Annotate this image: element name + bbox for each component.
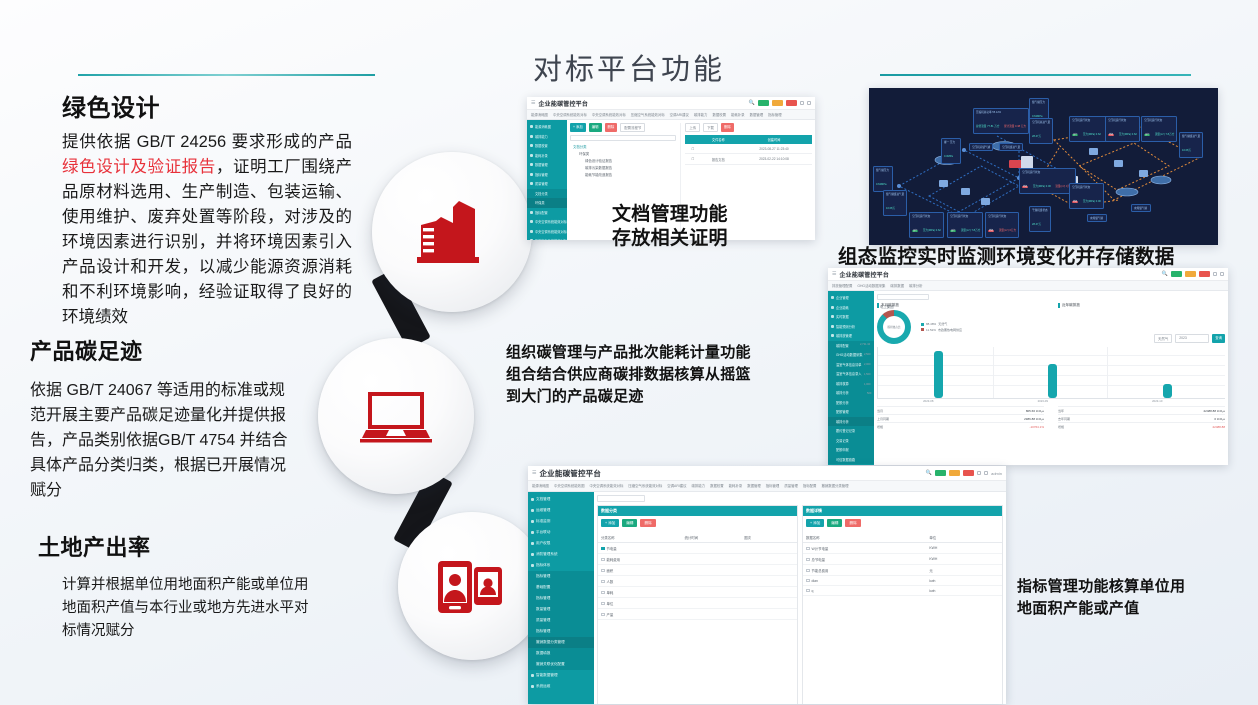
node-title: 空压机运行状态	[1072, 186, 1101, 189]
tab[interactable]: 空调ARI建议	[670, 112, 689, 117]
sidebar-item-label: 指标体系	[536, 563, 550, 568]
column-header: 单位	[926, 533, 1002, 543]
topology-node[interactable]: 罐一 压力 0.3MPa	[941, 138, 961, 164]
tab[interactable]: 质量管理	[784, 483, 798, 489]
tree-node[interactable]: 碳排污染数据报告	[570, 165, 676, 172]
tree-node[interactable]: 能耗节能改造报告	[570, 172, 676, 179]
table-row[interactable]: 产量	[598, 609, 797, 620]
sidebar-item-label: 碳排能力	[535, 134, 548, 139]
table-row[interactable]: qkwh	[803, 586, 1002, 596]
node-title: 末端储气罐	[1090, 217, 1104, 220]
node-value: 流量(m³) 7.8万方	[1155, 133, 1174, 136]
sidebar-subitem-active[interactable]: 环保类	[527, 198, 567, 208]
sidebar-item[interactable]: 指标配置	[527, 208, 567, 218]
donut-center-label: 碳排放占比	[883, 316, 905, 338]
tab-bar[interactable]: 能源消耗图 中央空调系统能效对标 中央空调系统能效对标 压缩空气系统能效对标 空…	[527, 110, 815, 120]
summary-value: 2986.88 tCO₂e	[1024, 417, 1044, 421]
tab[interactable]: 碳排数据	[890, 283, 904, 288]
caption-carbon-dashboard: 组织碳管理与产品批次能耗计量功能 组合结合供应商碳排数据核算从摇篮 到大门的产品…	[506, 342, 751, 407]
tab[interactable]: 数据管理	[750, 112, 764, 117]
sidebar-item[interactable]: 压缩空气系统能效对标	[527, 236, 567, 240]
sidebar-subitem[interactable]: 指标管理	[528, 626, 594, 637]
sidebar-item-label: 数据管理	[535, 162, 548, 167]
edit-button[interactable]: 编辑	[622, 519, 637, 527]
file-table: 文件名称 创建时间 ☐ 2023-08-27 11:23:40 ☐ 报告文档 2…	[685, 135, 812, 165]
user-label[interactable]: admin	[991, 471, 1002, 476]
topology-node[interactable]: 末端储气罐	[1131, 204, 1151, 212]
cell-name[interactable]: 总节电量	[803, 554, 926, 565]
topology-node[interactable]: 末端储气罐	[1087, 214, 1107, 222]
status-badge: 停机	[1108, 134, 1114, 136]
delete-button[interactable]: 删除	[605, 123, 618, 132]
sidebar-item[interactable]: 智能预测分析	[828, 322, 874, 332]
tab[interactable]: 能源消耗图	[532, 483, 549, 489]
cell-unit: KWH	[926, 543, 1002, 554]
node-title: 空压机运行状态	[988, 215, 1016, 218]
section-title: 绿色设计	[62, 88, 352, 123]
sidebar-item[interactable]: 能源消耗图	[527, 122, 567, 132]
table-row[interactable]: 节能总费用元	[803, 565, 1002, 576]
toolbar[interactable]: + 添加 编辑 删除	[803, 516, 1002, 530]
sidebar-item[interactable]: 质量管理	[527, 179, 567, 189]
y-tick: 2,000	[864, 363, 871, 366]
table-row[interactable]: 面积	[598, 565, 797, 576]
sidebar-item[interactable]: 文档管理	[528, 494, 594, 505]
tab[interactable]: 数据校置	[712, 112, 726, 117]
tab[interactable]: 碳排能力	[694, 112, 708, 117]
topology-node-ok[interactable]: 空压机运行状态 运行 流量(m³) 7.8万方	[1141, 116, 1177, 142]
topology-node-ok[interactable]: 空压机运行状态 运行 压力(MPa) 0.62	[909, 212, 944, 238]
sidebar-item-label: 指标管理	[535, 172, 548, 177]
sidebar-item-label: 环保类	[535, 200, 545, 205]
sidebar-item-label: 基础配置	[536, 585, 550, 590]
sidebar-subitem[interactable]: 配额分析	[828, 398, 874, 408]
data-category-panel: 数据分类 + 添加 编辑 删除 分类名称 统计时间 图次 节电量 能耗费用	[597, 505, 798, 704]
detail-table: 数据名称 单位 W计节电量KWH 总节电量KWH 节能总费用元 diankwh …	[803, 533, 1002, 596]
sidebar-subitem[interactable]: 指标管理	[528, 571, 594, 582]
y-tick: 500	[867, 392, 871, 395]
toolbar[interactable]: 上传 下载 删除	[685, 123, 812, 132]
topology-node[interactable]: 储气罐组进气量 10.08万	[1179, 132, 1203, 158]
topology-node[interactable]: 压缩机总功率 55.12% 总管流量 77.81 万方 累计流量 0.38 万方	[973, 108, 1029, 134]
select-all-checkbox[interactable]	[685, 135, 700, 144]
table-row[interactable]: 单位	[598, 598, 797, 609]
summary-key: 增幅	[1058, 425, 1212, 429]
tab[interactable]: 中央空调系统能效对标	[592, 112, 626, 117]
menu-icon[interactable]: ☰	[532, 470, 536, 476]
caption-indicator-management: 指标管理功能核算单位用 地面积产能或产值	[1017, 576, 1185, 620]
donut-ring: 碳排放占比	[877, 310, 911, 344]
sidebar-subitem[interactable]: 履约登记记录	[828, 426, 874, 436]
summary-value: 0 tCO₂e	[1214, 417, 1225, 421]
node-title: 空压机运行状态	[1022, 171, 1073, 174]
tab[interactable]: 中央空调系统能效对标	[589, 483, 623, 489]
sidebar-item[interactable]: 用户权限	[528, 538, 594, 549]
node-value: 0.62MPa	[876, 183, 886, 186]
sidebar-item-label: 实时数据	[836, 314, 849, 319]
mobile-users-icon	[398, 512, 546, 660]
sidebar-item[interactable]: 标准监测	[528, 516, 594, 527]
node-value: 流量(m³) 0万方	[999, 229, 1016, 232]
thumbnail-indicator-management[interactable]: ☰ 企业能碳管控平台 🔍 admin 能源消耗图 中央空调系统能效图 中央空调系…	[528, 466, 1006, 704]
sidebar-item[interactable]: 数据校置	[527, 141, 567, 151]
summary-key: 上月同期	[877, 417, 1024, 421]
node-value: 10.08万	[1182, 149, 1191, 152]
menu-icon[interactable]: ☰	[832, 271, 836, 277]
sidebar-subitem[interactable]: 撤销关联优化配置	[528, 659, 594, 670]
sidebar-item-label: 能耗补录	[535, 153, 548, 158]
sidebar-item-label: 消防管理系统	[536, 552, 558, 557]
tab[interactable]: 压缩空气系统能效对标	[631, 112, 665, 117]
node-title: 储气罐压力	[876, 169, 890, 172]
sidebar-item[interactable]: 指标体系	[528, 560, 594, 571]
tab[interactable]: 能耗补录	[729, 483, 743, 489]
node-value: 压力(MPa) 0.62	[923, 229, 941, 232]
tab[interactable]: 指标配置	[803, 483, 817, 489]
legend-value: 11.52%	[926, 328, 936, 332]
sidebar-item-label: 撤销数据分类管理	[536, 640, 565, 645]
summary-row: 增幅 22488.88	[1058, 422, 1225, 430]
cell-name[interactable]: 产量	[598, 609, 682, 620]
node-title: 空压机运行状态	[950, 215, 980, 218]
tool-icon[interactable]	[1213, 272, 1217, 276]
sidebar-item-label: 配额管理	[836, 409, 849, 414]
cell-name[interactable]: 节电量	[598, 543, 682, 554]
summary-value: 22488.88	[1212, 425, 1225, 429]
tool-icon[interactable]	[1220, 272, 1224, 276]
sidebar-subitem[interactable]: 数据填报	[528, 648, 594, 659]
row-checkbox[interactable]: ☐	[685, 154, 700, 165]
row-checkbox[interactable]: ☐	[685, 144, 700, 154]
search-icon[interactable]: 🔍	[749, 100, 755, 106]
sidebar-item-label: 质量管理	[536, 618, 550, 623]
sidebar-item[interactable]: 系统运维	[528, 681, 594, 692]
donut-legend: 88.48% 天然气 11.52% 市政蓄热电网供应	[921, 321, 962, 334]
sidebar-subitem[interactable]: 配额申报	[828, 445, 874, 455]
sidebar-subitem[interactable]: 文档分类	[527, 189, 567, 199]
table-row[interactable]: 节电量	[598, 543, 797, 554]
sidebar-subitem[interactable]: 数量管理	[528, 604, 594, 615]
table-row[interactable]: 人数	[598, 576, 797, 587]
sidebar-item-label: 企业能耗	[836, 305, 849, 310]
status-chip-green	[758, 100, 769, 106]
search-button[interactable]: 查询	[1212, 334, 1225, 343]
sidebar-item[interactable]: 企业能耗	[828, 303, 874, 313]
sidebar-item-label: 交易记录	[836, 438, 849, 443]
caption-scada-topology: 组态监控实时监测环境变化并存储数据	[838, 245, 1175, 269]
node-value: 流量(m³) 7.8万方	[961, 229, 980, 232]
search-icon[interactable]: 🔍	[926, 470, 932, 476]
caption-line: 到大门的产品碳足迹	[506, 386, 751, 408]
node-title: 储气罐组进气量	[886, 193, 904, 196]
edit-button[interactable]: 编辑	[589, 123, 602, 132]
tool-icon[interactable]	[807, 101, 811, 105]
node-title: 空压机组进气量	[1002, 146, 1020, 149]
column-header: 创建时间	[736, 135, 812, 144]
sidebar-item-label: 碳排分析	[836, 419, 849, 424]
app-title: 企业能碳管控平台	[538, 99, 588, 108]
sidebar-item-label: 数量管理	[536, 607, 550, 612]
caption-line: 组织碳管理与产品批次能耗计量功能	[506, 342, 751, 364]
node-value: 10.08万	[886, 207, 895, 210]
sidebar-subitem-active[interactable]: 撤销数据分类管理	[528, 637, 594, 648]
sidebar-item[interactable]: 数据管理	[527, 160, 567, 170]
table-row[interactable]: W计节电量KWH	[803, 543, 1002, 554]
table-row[interactable]: 总节电量KWH	[803, 554, 1002, 565]
status-badge: 停机	[988, 230, 994, 232]
sidebar-item-label: 履约登记记录	[836, 428, 855, 433]
tab[interactable]: 数据校置	[710, 483, 724, 489]
table-row[interactable]: diankwh	[803, 576, 1002, 586]
sidebar[interactable]: 文档管理 运维管理 标准监测 平台联动 用户权限 消防管理系统 指标体系 指标管…	[528, 492, 594, 704]
upload-button[interactable]: 上传	[685, 123, 700, 132]
status-chip-orange	[772, 100, 783, 106]
sidebar-item[interactable]: 消防管理系统	[528, 549, 594, 560]
topology-node-alarm[interactable]: 空压机运行状态 停机 压力(MPa) 0.62	[1105, 116, 1140, 142]
tab[interactable]: 空调ARI建议	[667, 483, 686, 489]
tree-node[interactable]: 绿色设计验证报告	[570, 158, 676, 165]
toolbar[interactable]: + 添加 编辑 删除 配置流程节	[570, 123, 676, 132]
panel-header: 数据详情	[803, 506, 1002, 516]
tree-node[interactable]: 环保类	[570, 151, 676, 158]
sidebar-item[interactable]: 运维管理	[528, 505, 594, 516]
tab[interactable]: GHG活动数据采集	[857, 283, 885, 288]
cell-name[interactable]: dian	[803, 576, 926, 586]
config-button[interactable]: 配置流程节	[620, 123, 645, 132]
tab[interactable]: 指标管理	[768, 112, 782, 117]
divider-left	[78, 74, 375, 76]
sidebar-item-label: 能源消耗图	[535, 124, 551, 129]
node-title: 空压机总进气量	[1032, 121, 1050, 124]
cell-name[interactable]: 能耗费用	[598, 554, 682, 565]
sidebar-item-label: 标准监测	[536, 519, 550, 524]
tab[interactable]: 中央空调系统能效对标	[553, 112, 587, 117]
cell-name[interactable]: 面积	[598, 565, 682, 576]
status-chip-red	[963, 470, 974, 476]
cell-name[interactable]: q	[803, 586, 926, 596]
sidebar-item-label: 数据校置	[535, 143, 548, 148]
sidebar-item-label: 温室气体信息清单	[836, 362, 862, 367]
table-header-row: 文件名称 创建时间	[685, 135, 812, 144]
sidebar-item-label: 碳排分析	[836, 390, 849, 395]
cell-name: 报告文档	[701, 154, 736, 165]
tab[interactable]: 碳排能力	[692, 483, 706, 489]
delete-button[interactable]: 删除	[845, 519, 860, 527]
sidebar-subitem[interactable]: 质量管理	[528, 615, 594, 626]
group-select[interactable]: 电工集团	[597, 495, 645, 502]
sidebar-subitem[interactable]: 交易记录	[828, 436, 874, 446]
summary-value: -10764.1%	[1029, 425, 1044, 429]
sidebar-item-label: 指标配置	[535, 210, 548, 215]
tab[interactable]: 能源消耗图	[531, 112, 548, 117]
category-table: 分类名称 统计时间 图次 节电量 能耗费用 面积 人数 单耗 单位 产量	[598, 533, 797, 620]
status-badge: 运行	[1072, 134, 1078, 136]
sidebar-item[interactable]: 企业管理	[828, 293, 874, 303]
tab-active[interactable]: 撤销数据分类管理	[821, 483, 848, 489]
delete-button[interactable]: 删除	[640, 519, 655, 527]
table-row[interactable]: 单耗	[598, 587, 797, 598]
cell-name[interactable]: 人数	[598, 576, 682, 587]
node-title: 末端储气罐	[1134, 207, 1148, 210]
sidebar-item[interactable]: 能耗补录	[527, 151, 567, 161]
add-button[interactable]: + 添加	[570, 123, 586, 132]
status-badge: 运行	[912, 230, 918, 232]
panel-header: 数据分类	[598, 506, 797, 516]
table-row[interactable]: ☐ 2023-08-27 11:23:40	[685, 144, 812, 154]
topology-node[interactable]: 储气罐压力 0.62MPa	[873, 166, 893, 192]
panel-label-right: 近年碳排放	[1058, 303, 1225, 308]
bar-chart: 2,731.34 2,500 2,000 1,500 1,000 500 202…	[877, 347, 1225, 399]
caption-line: 文档管理功能	[612, 203, 728, 227]
node-value: 28.47万	[1032, 223, 1041, 226]
sidebar-subitem[interactable]: 可信数据链路	[828, 455, 874, 465]
sidebar-item-label: 平台联动	[536, 530, 550, 535]
sidebar-item-label: 温室气体信息录入	[836, 371, 862, 376]
tab[interactable]: 排放管理配置	[832, 283, 852, 288]
topology-node-alarm[interactable]: 空压机运行状态 停机 压力(MPa) 0.00 流量(m³) 0万方	[1019, 168, 1076, 194]
tool-icon[interactable]	[800, 101, 804, 105]
cell-time: 2023-02-22 14:10:08	[736, 154, 812, 165]
tab-bar[interactable]: 排放管理配置 GHG活动数据采集 碳排数据 碳排分析	[828, 281, 1228, 291]
delete-button[interactable]: 删除	[721, 123, 734, 132]
app-title: 企业能碳管控平台	[539, 468, 601, 479]
sidebar-item[interactable]: 平台联动	[528, 527, 594, 538]
caption-line: 指标管理功能核算单位用	[1017, 576, 1185, 598]
sidebar-item[interactable]: 中央空调系统能效对标	[527, 227, 567, 237]
caption-document-management: 文档管理功能 存放相关证明	[612, 203, 728, 251]
tool-icon[interactable]	[984, 471, 988, 475]
sidebar-item-label: 用户权限	[536, 541, 550, 546]
type-select[interactable]: 天然气	[1154, 334, 1172, 343]
sidebar-item-label: 中央空调系统能效对标	[535, 229, 567, 234]
legend-value: 88.48%	[926, 322, 936, 326]
table-row[interactable]: ☐ 报告文档 2023-02-22 14:10:08	[685, 154, 812, 165]
table-row[interactable]: 能耗费用	[598, 554, 797, 565]
sidebar[interactable]: 企业管理 企业能耗 实时数据 智能预测分析 碳排放管理 碳排配置 GHG活动数据…	[828, 291, 874, 465]
node-title: 压缩机总功率 55.12%	[976, 111, 1026, 114]
sidebar-item-label: 数据填报	[536, 651, 550, 656]
edit-button[interactable]: 编辑	[827, 519, 842, 527]
app-header: ☰ 企业能碳管控平台 🔍	[527, 97, 815, 110]
document-tree[interactable]: 文档分类 环保类 绿色设计验证报告 碳排污染数据报告 能耗节能改造报告	[570, 144, 676, 179]
thumbnail-carbon-dashboard[interactable]: ☰ 企业能碳管控平台 🔍 排放管理配置 GHG活动数据采集 碳排数据 碳排分析 …	[828, 268, 1228, 465]
tool-icon[interactable]	[977, 471, 981, 475]
summary-key: 当年	[1058, 409, 1203, 413]
cell-unit: 元	[926, 565, 1002, 576]
add-button[interactable]: + 添加	[806, 519, 824, 527]
section-land-output: 土地产出率 计算并根据单位用地面积产能或单位用地面积产值与本行业或地方先进水平对…	[38, 530, 318, 643]
tab[interactable]: 数据管理	[747, 483, 761, 489]
topology-node-alarm[interactable]: 空压机运行状态 停机 压力(MPa) 0.00	[1069, 183, 1104, 209]
sidebar-subitem[interactable]: 基础配置	[528, 582, 594, 593]
summary-row: 当年 22488.88 tCO₂e	[1058, 406, 1225, 414]
caption-line: 组合结合供应商碳排数据核算从摇篮	[506, 364, 751, 386]
tab-active[interactable]: 碳排分析	[909, 283, 923, 288]
tab[interactable]: 能耗补录	[731, 112, 745, 117]
menu-icon[interactable]: ☰	[531, 100, 535, 106]
group-select[interactable]: 电工集团	[877, 294, 929, 300]
tree-node[interactable]: 文档分类	[570, 144, 676, 151]
sidebar-item[interactable]: 智能数据管理	[528, 670, 594, 681]
sidebar-item[interactable]: 碳排放管理	[828, 331, 874, 341]
bar	[1048, 364, 1057, 398]
sidebar[interactable]: 能源消耗图 碳排能力 数据校置 能耗补录 数据管理 指标管理 质量管理 文档分类…	[527, 120, 567, 240]
topology-node[interactable]: 空压机组进气量	[999, 143, 1023, 151]
sidebar-item-label: 配额申报	[836, 447, 849, 452]
node-value: 0.3MPa	[944, 155, 953, 158]
sidebar-item-label: 指标管理	[536, 596, 550, 601]
topology-node[interactable]: 储气罐组进气量 10.08万	[883, 190, 907, 216]
topology-node-ok[interactable]: 空压机运行状态 运行 流量(m³) 7.8万方	[947, 212, 983, 238]
node-title: 空压机运行状态	[1108, 119, 1137, 122]
node-title: 储气罐压力	[1032, 101, 1046, 104]
y-tick: 1,500	[864, 373, 871, 376]
y-tick: 2,500	[864, 353, 871, 356]
tab-bar[interactable]: 能源消耗图 中央空调系统能效图 中央空调系统能效对标 压缩空气系统能效对标 空调…	[528, 481, 1006, 492]
sidebar-item-label: 运维管理	[536, 508, 550, 513]
laptop-icon	[318, 338, 474, 494]
tab[interactable]: 中央空调系统能效图	[554, 483, 585, 489]
sidebar-subitem[interactable]: 指标管理	[528, 593, 594, 604]
node-value: 压力(MPa) 0.00	[1033, 185, 1051, 188]
sidebar-item-label: GHG活动数据采集	[836, 352, 862, 357]
table-header-row: 分类名称 统计时间 图次	[598, 533, 797, 543]
topology-node-alarm[interactable]: 空压机运行状态 停机 流量(m³) 0万方	[985, 212, 1019, 238]
add-button[interactable]: + 添加	[601, 519, 619, 527]
sidebar-item-label: 文档管理	[536, 497, 550, 502]
status-badge: 运行	[1144, 134, 1150, 136]
cell-unit: KWH	[926, 554, 1002, 565]
summary-key: 增幅	[877, 425, 1029, 429]
topology-node[interactable]: 干燥机组状态 28.47万	[1029, 206, 1051, 232]
cell-name[interactable]: 节能总费用	[803, 565, 926, 576]
topology-node[interactable]: 空压机总进气量 28.47万	[1029, 118, 1053, 144]
download-button[interactable]: 下载	[703, 123, 718, 132]
summary-row: 去年同期 0 tCO₂e	[1058, 414, 1225, 422]
node-value: 总管流量 77.81 万方	[976, 125, 1000, 128]
column-header: 统计时间	[682, 533, 742, 543]
filter-select[interactable]	[570, 135, 676, 141]
cell-name[interactable]: 单位	[598, 598, 682, 609]
sidebar-item-label: 文档分类	[535, 191, 548, 196]
sidebar-item-label: 压缩空气系统能效对标	[535, 238, 567, 240]
cell-unit: kwh	[926, 586, 1002, 596]
sidebar-item[interactable]: 指标管理	[527, 170, 567, 180]
summary-key: 当月	[877, 409, 1026, 413]
tab[interactable]: 指标管理	[766, 483, 780, 489]
sidebar-item-label: 指标管理	[536, 629, 550, 634]
sidebar-item[interactable]: 中央空调系统能效对标	[527, 217, 567, 227]
topology-canvas[interactable]: 储气罐压力 0.62MPa 空压机总进气量 28.47万 压缩机总功率 55.1…	[869, 88, 1218, 245]
search-icon[interactable]: 🔍	[1162, 271, 1168, 277]
status-chip-orange	[949, 470, 960, 476]
sidebar-item[interactable]: 实时数据	[828, 312, 874, 322]
status-chip-green	[935, 470, 946, 476]
tab[interactable]: 压缩空气系统能效对标	[628, 483, 662, 489]
cell-name[interactable]: W计节电量	[803, 543, 926, 554]
cell-name[interactable]: 单耗	[598, 587, 682, 598]
topology-node[interactable]: 空压机房储气罐	[969, 143, 993, 151]
date-input[interactable]: 2023	[1175, 334, 1209, 343]
toolbar[interactable]: + 添加 编辑 删除	[598, 516, 797, 530]
thumbnail-scada-topology[interactable]: 储气罐压力 0.62MPa 空压机总进气量 28.47万 压缩机总功率 55.1…	[869, 88, 1218, 245]
sidebar-item-label: 质量管理	[535, 181, 548, 186]
sidebar-subitem-active[interactable]: 碳排分析	[828, 417, 874, 427]
caption-line: 存放相关证明	[612, 227, 728, 251]
sidebar-item[interactable]: 碳排能力	[527, 132, 567, 142]
sidebar-subitem[interactable]: 配额管理	[828, 407, 874, 417]
building-icon	[372, 152, 532, 312]
